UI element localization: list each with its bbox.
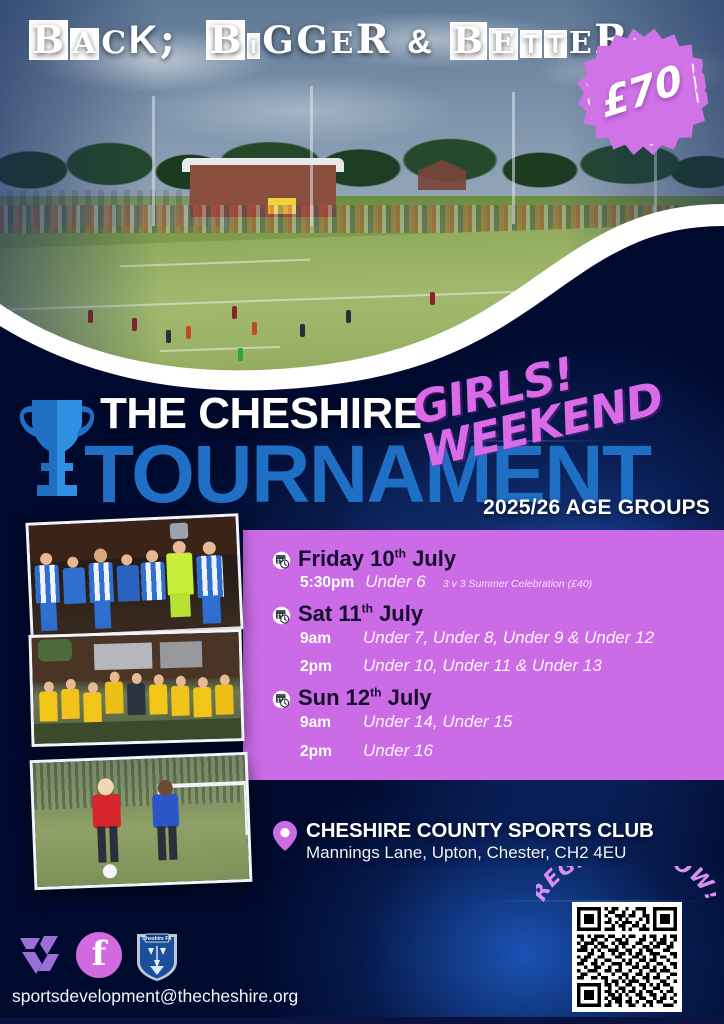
photo-player-kit [88, 562, 114, 603]
photo-player-kit [140, 562, 166, 601]
veo-icon[interactable] [14, 932, 66, 978]
session-note: 3 v 3 Summer Celebration (£40) [443, 577, 592, 591]
photo-players-pitch [30, 752, 253, 890]
calendar-clock-icon [272, 606, 291, 625]
schedule-day-title: Sat 11th July [298, 601, 423, 626]
photo-player-red-kit [92, 794, 121, 829]
photo-player-shorts [170, 593, 191, 618]
tagline-letter: T [520, 30, 542, 58]
session-time: 2pm [300, 657, 352, 678]
register-now-text: REGISTER NOW! [536, 866, 716, 905]
photo-trophy [170, 523, 189, 540]
photo-player-shorts [94, 600, 111, 629]
schedule-session: 2pm Under 16 [300, 740, 712, 763]
photo-player-shorts [40, 603, 57, 632]
tagline-letter: R [356, 20, 390, 60]
session-ages: Under 16 [363, 740, 433, 763]
venue-address: Mannings Lane, Upton, Chester, CH2 4EU [306, 843, 626, 863]
session-ages: Under 10, Under 11 & Under 13 [363, 655, 602, 678]
tagline-letter: G [296, 22, 328, 59]
tagline-letter: i [247, 33, 260, 59]
photo-player-blue-kit [152, 794, 179, 829]
photo-player-kit [83, 692, 102, 722]
footer-bar [0, 1017, 724, 1024]
photo-player-kit [61, 689, 80, 719]
schedule-day: Sat 11th July [272, 601, 712, 626]
schedule-day-sessions: 9am Under 7, Under 8, Under 9 & Under 12… [300, 627, 712, 679]
photo-goalkeeper-kit [166, 552, 194, 595]
photo-team-yellow [28, 629, 244, 747]
schedule-day-title: Friday 10th July [298, 546, 456, 571]
session-ages: Under 7, Under 8, Under 9 & Under 12 [363, 627, 654, 650]
photo-player-leg [168, 826, 177, 860]
session-time: 2pm [300, 742, 352, 763]
tagline-back-bigger-better: BACK; BiGGER & BETTER [28, 20, 588, 78]
qr-code[interactable] [572, 902, 682, 1012]
tagline-letter: E [330, 29, 353, 59]
schedule-session: 5:30pm Under 6 3 v 3 Summer Celebration … [300, 571, 712, 594]
tagline-letter: ; [160, 20, 175, 60]
session-ages: Under 6 [365, 571, 425, 594]
price-badge: £70 [570, 20, 715, 165]
schedule-day-title: Sun 12th July [298, 685, 432, 710]
facebook-icon[interactable]: f [76, 932, 122, 978]
photo-hanging-basket [38, 639, 73, 662]
photo-player-kit [105, 681, 124, 713]
session-time: 9am [300, 713, 352, 734]
photo-player-kit [39, 691, 58, 721]
svg-text:REGISTER NOW!: REGISTER NOW! [536, 866, 716, 905]
tagline-letter: C [101, 28, 126, 59]
photo-player-kit [117, 565, 141, 602]
contact-email[interactable]: sportsdevelopment@thecheshire.org [12, 986, 298, 1007]
tournament-poster: BACK; BiGGER & BETTER £70 THE CHESHIRE T… [0, 0, 724, 1024]
tagline-letter: G [262, 22, 294, 59]
tagline-letter: B [450, 22, 487, 60]
cheshire-fa-badge-icon[interactable]: Cheshire FA [134, 932, 180, 982]
tagline-letter: B [206, 20, 245, 60]
photo-player-kit [149, 684, 168, 714]
photo-player-kit [196, 555, 224, 598]
photo-player-kit [193, 687, 212, 717]
photo-player-kit [215, 684, 234, 714]
schedule-session: 9am Under 14, Under 15 [300, 711, 712, 734]
tagline-letter: E [489, 28, 518, 60]
tagline-letter: T [544, 30, 566, 58]
tagline-letter: A [70, 28, 100, 60]
photo-window [94, 643, 153, 671]
photo-player-kit [63, 567, 87, 604]
cheshire-fa-label: Cheshire FA [142, 936, 172, 942]
schedule-list: Friday 10th July 5:30pm Under 6 3 v 3 Su… [272, 544, 712, 770]
schedule-session: 9am Under 7, Under 8, Under 9 & Under 12 [300, 627, 712, 650]
schedule-day: Friday 10th July [272, 546, 712, 571]
schedule-day-sessions: 9am Under 14, Under 15 2pm Under 16 [300, 711, 712, 763]
photo-player-leg [157, 826, 166, 860]
age-groups-label: 2025/26 AGE GROUPS [483, 496, 710, 520]
session-ages: Under 14, Under 15 [363, 711, 512, 734]
schedule-day: Sun 12th July [272, 685, 712, 710]
tagline-ampersand: & [397, 25, 442, 59]
venue-name: CHESHIRE COUNTY SPORTS CLUB [306, 819, 654, 843]
calendar-clock-icon [272, 551, 291, 570]
session-time: 9am [300, 629, 352, 650]
photo-player-shorts [202, 595, 221, 624]
photo-trophy-celebration [25, 513, 243, 639]
calendar-clock-icon [272, 690, 291, 709]
schedule-session: 2pm Under 10, Under 11 & Under 13 [300, 655, 712, 678]
photo-player-kit [171, 686, 190, 716]
photo-player-kit [34, 564, 60, 603]
tagline-letter: K [129, 20, 158, 60]
tagline-letter: B [29, 20, 68, 60]
qr-code-graphic [577, 907, 677, 1007]
facebook-glyph: f [76, 932, 122, 978]
schedule-day-sessions: 5:30pm Under 6 3 v 3 Summer Celebration … [300, 571, 712, 594]
photo-player-leg [97, 826, 106, 862]
photo-coach-kit [127, 683, 146, 715]
photo-player-leg [109, 826, 118, 862]
session-time: 5:30pm [300, 573, 354, 594]
photo-window [160, 641, 203, 668]
map-pin-icon [272, 820, 298, 852]
